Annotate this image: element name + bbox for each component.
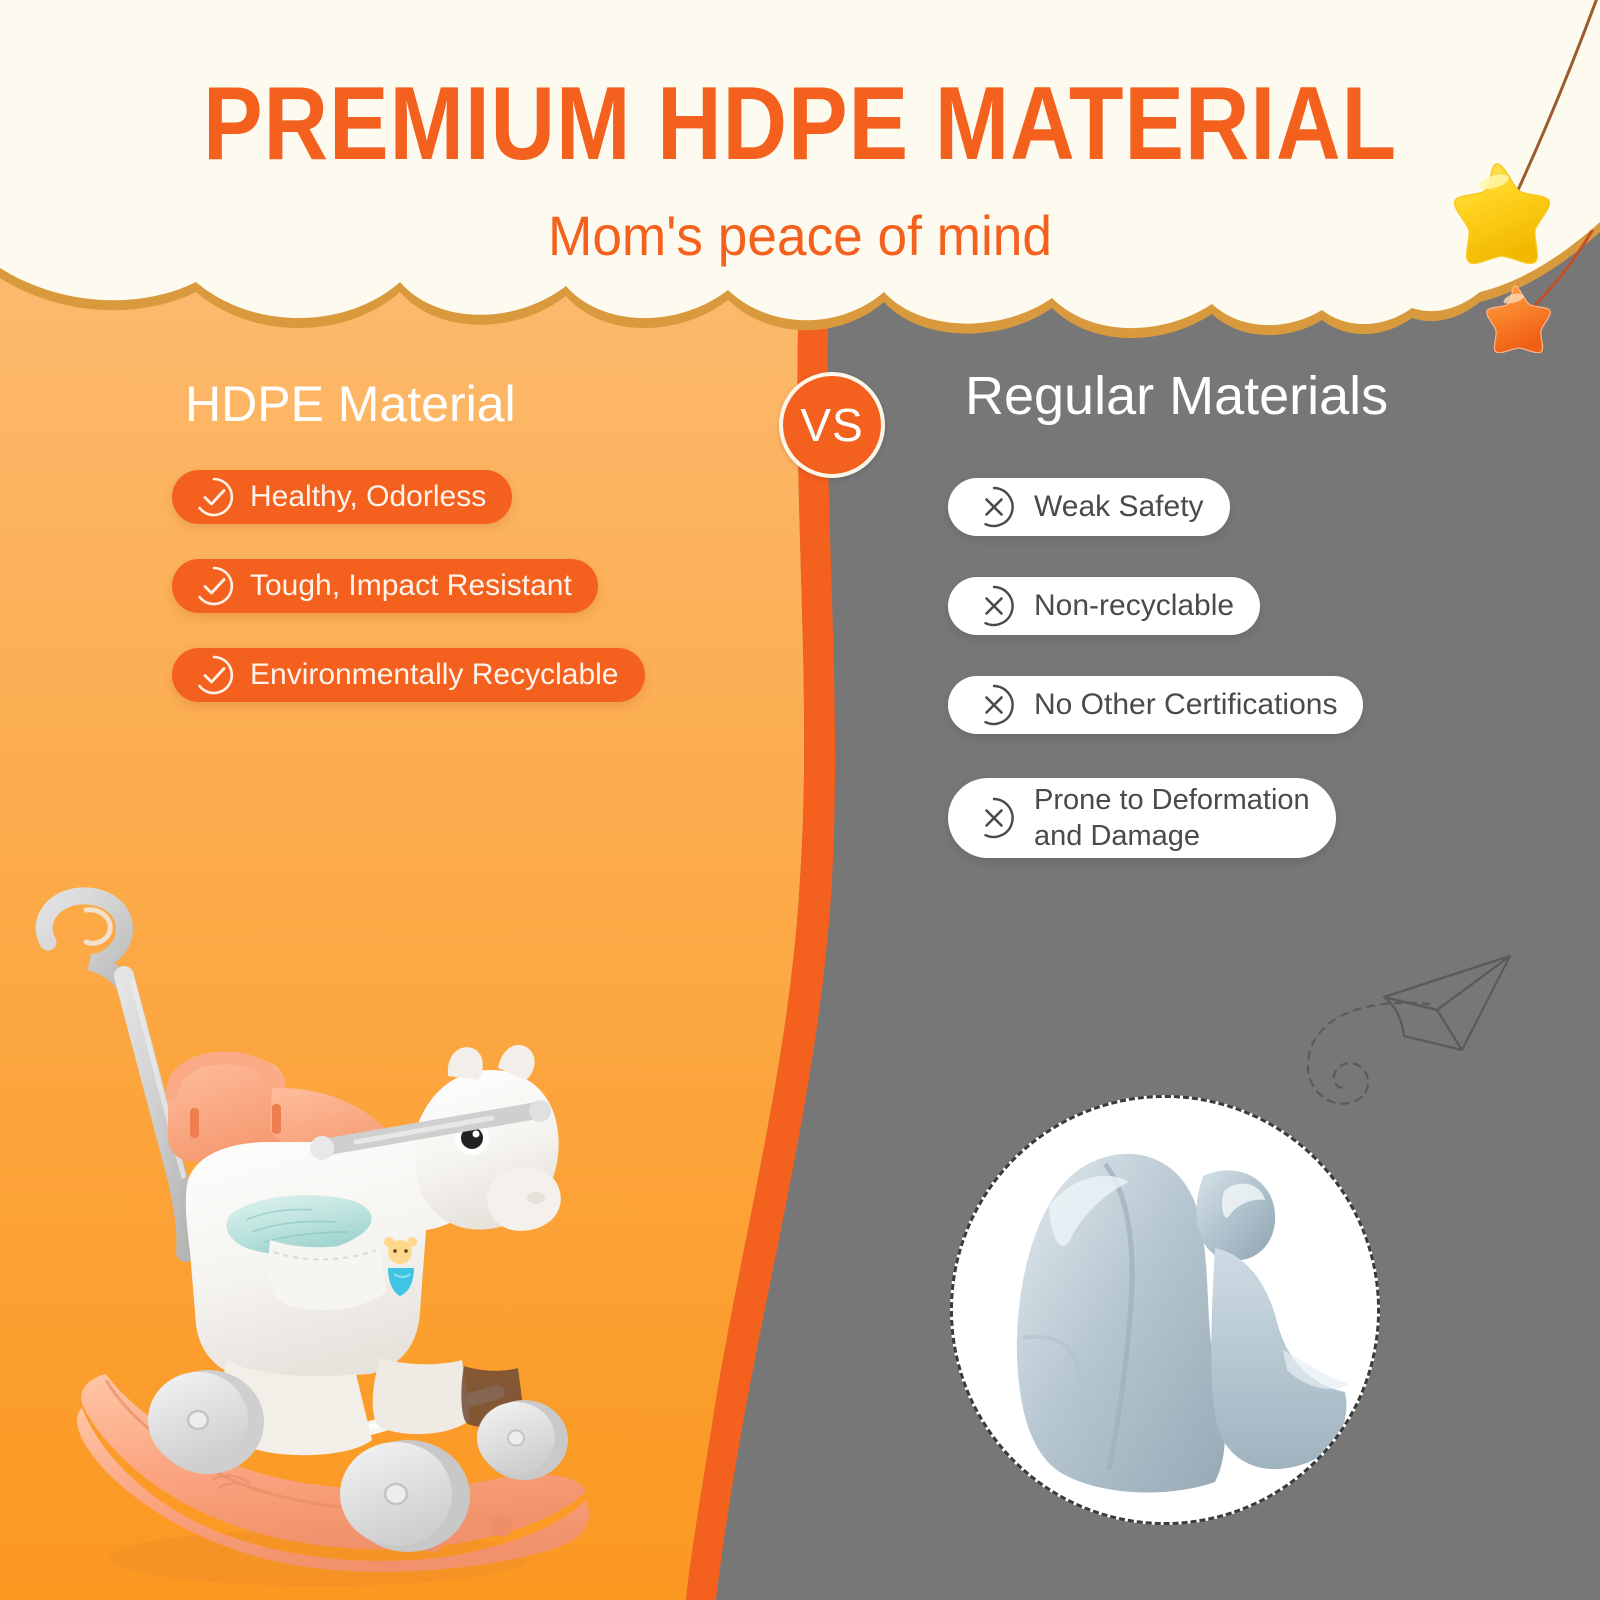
drawback-pill-regular[interactable]: No Other Certifications <box>948 676 1363 734</box>
x-circle-icon <box>970 483 1018 531</box>
x-circle-icon <box>970 681 1018 729</box>
x-circle-icon <box>970 794 1018 842</box>
cloud-header-shape <box>0 0 1600 350</box>
check-circle-icon <box>192 475 236 519</box>
left-column-heading: HDPE Material <box>185 375 516 433</box>
drawback-pill-regular[interactable]: Prone to Deformation and Damage <box>948 778 1336 858</box>
check-circle-icon <box>192 653 236 697</box>
check-circle-icon <box>192 564 236 608</box>
vs-badge: VS <box>779 372 885 478</box>
deformed-plastic-photo <box>950 1095 1380 1525</box>
drawback-pill-label: Non-recyclable <box>1034 589 1234 623</box>
infographic-canvas: PREMIUM HDPE MATERIAL Mom's peace of min… <box>0 0 1600 1600</box>
drawback-pill-label: No Other Certifications <box>1034 688 1337 722</box>
drawback-pill-label: Weak Safety <box>1034 490 1204 524</box>
star-icon <box>1442 160 1552 264</box>
drawback-pill-regular[interactable]: Non-recyclable <box>948 577 1260 635</box>
drawback-pill-label: Prone to Deformation and Damage <box>1034 782 1310 854</box>
rocking-horse-product-photo <box>20 880 640 1600</box>
right-column-heading: Regular Materials <box>965 365 1388 427</box>
star-icon <box>1478 283 1552 353</box>
feature-pill-hdpe[interactable]: Tough, Impact Resistant <box>172 559 598 613</box>
feature-pill-label: Tough, Impact Resistant <box>250 569 572 603</box>
feature-pill-label: Environmentally Recyclable <box>250 658 619 692</box>
feature-pill-hdpe[interactable]: Environmentally Recyclable <box>172 648 645 702</box>
drawback-pill-regular[interactable]: Weak Safety <box>948 478 1230 536</box>
vs-label: VS <box>800 398 863 452</box>
dashed-spiral-icon <box>1290 1000 1430 1130</box>
feature-pill-label: Healthy, Odorless <box>250 480 486 514</box>
x-circle-icon <box>970 582 1018 630</box>
feature-pill-hdpe[interactable]: Healthy, Odorless <box>172 470 512 524</box>
